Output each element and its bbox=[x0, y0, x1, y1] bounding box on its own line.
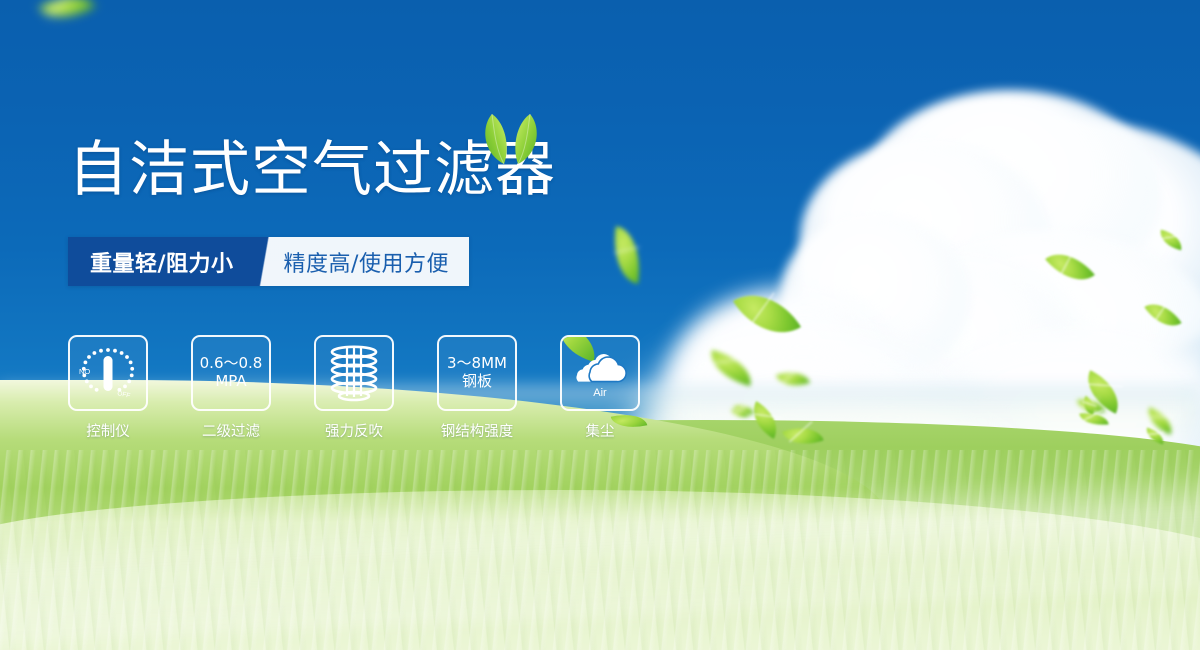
feature-icon-box: Air bbox=[560, 335, 640, 411]
page-title: 自洁式空气过滤器 bbox=[68, 140, 556, 200]
feature-item-dust-collection[interactable]: Air 集尘 bbox=[560, 335, 640, 441]
grass-foreground bbox=[0, 490, 1200, 650]
control-dial-icon: NO OFF bbox=[76, 343, 140, 403]
feature-label: 控制仪 bbox=[86, 420, 130, 441]
feature-label: 钢结构强度 bbox=[441, 420, 514, 441]
feature-icon-box: NO OFF bbox=[68, 335, 148, 411]
feature-label: 二级过滤 bbox=[202, 420, 260, 441]
feature-list: NO OFF 控制仪 0.6～0.8 MPA 二级过滤 bbox=[68, 335, 640, 441]
subtitle-bar: 重量轻/阻力小 精度高/使用方便 bbox=[68, 237, 469, 286]
subtitle-right-text: 精度高/使用方便 bbox=[280, 237, 469, 286]
feature-icon-box bbox=[314, 335, 394, 411]
subtitle-left-text: 重量轻/阻力小 bbox=[68, 237, 254, 286]
dial-off-label: OFF bbox=[117, 390, 131, 400]
pressure-text-icon: 0.6～0.8 MPA bbox=[200, 355, 263, 390]
feature-label: 强力反吹 bbox=[325, 420, 383, 441]
steel-plate-text-icon: 3～8MM 钢板 bbox=[447, 355, 507, 390]
filter-cartridge-icon bbox=[325, 343, 383, 403]
feature-item-back-blow[interactable]: 强力反吹 bbox=[314, 335, 394, 441]
feature-item-steel-strength[interactable]: 3～8MM 钢板 钢结构强度 bbox=[437, 335, 517, 441]
subtitle-divider-slash bbox=[254, 237, 280, 286]
feature-icon-box: 3～8MM 钢板 bbox=[437, 335, 517, 411]
air-label: Air bbox=[593, 387, 607, 399]
feature-item-two-stage-filter[interactable]: 0.6～0.8 MPA 二级过滤 bbox=[191, 335, 271, 441]
product-banner: 自洁式空气过滤器 重量轻/阻力小 精度 bbox=[0, 0, 1200, 650]
dial-on-label: NO bbox=[79, 367, 90, 376]
air-cloud-icon: Air bbox=[568, 345, 632, 401]
feature-item-control-panel[interactable]: NO OFF 控制仪 bbox=[68, 335, 148, 441]
feature-icon-box: 0.6～0.8 MPA bbox=[191, 335, 271, 411]
feature-label: 集尘 bbox=[586, 420, 615, 441]
